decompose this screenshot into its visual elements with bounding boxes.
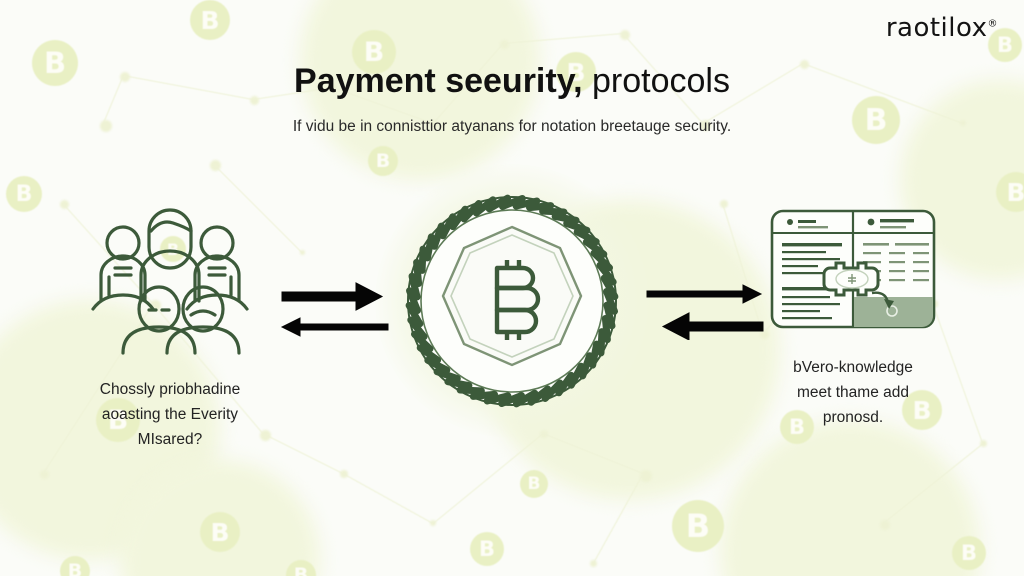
left-caption-line-3: MIsared? [100,427,240,452]
right-caption-line-2: meet thame add [793,380,913,405]
brand-logo: raotilox® [886,13,998,43]
center-coin-group [397,186,627,416]
right-caption-line-3: pronosd. [793,405,913,430]
page-title: Payment seeurity, protocols [0,62,1024,101]
left-caption-line-1: Chossly priobhadine [100,377,240,402]
document-dashboard-icon [768,205,938,333]
group-of-people-icon [77,205,263,355]
arrow-right-thick-icon [282,283,382,310]
right-caption-line-1: bVero-knowledge [793,355,913,380]
left-caption-line-2: aoasting the Everity [100,402,240,427]
left-caption: Chossly priobhadine aoasting the Everity… [100,377,240,452]
secure-coin-icon [397,186,627,416]
page-subtitle: If vidu be in connisttior atyanans for n… [0,118,1024,136]
right-column: bVero-knowledge meet thame add pronosd. [712,205,994,430]
page-title-bold: Payment seeurity, [294,62,583,100]
arrow-left-thin-icon [282,318,388,336]
right-caption: bVero-knowledge meet thame add pronosd. [793,355,913,430]
registered-trademark-icon: ® [988,18,999,29]
arrows-left-group [280,278,390,340]
left-column: Chossly priobhadine aoasting the Everity… [36,205,304,452]
brand-logo-name: raotilox [886,13,988,43]
page-title-light: protocols [583,62,730,100]
